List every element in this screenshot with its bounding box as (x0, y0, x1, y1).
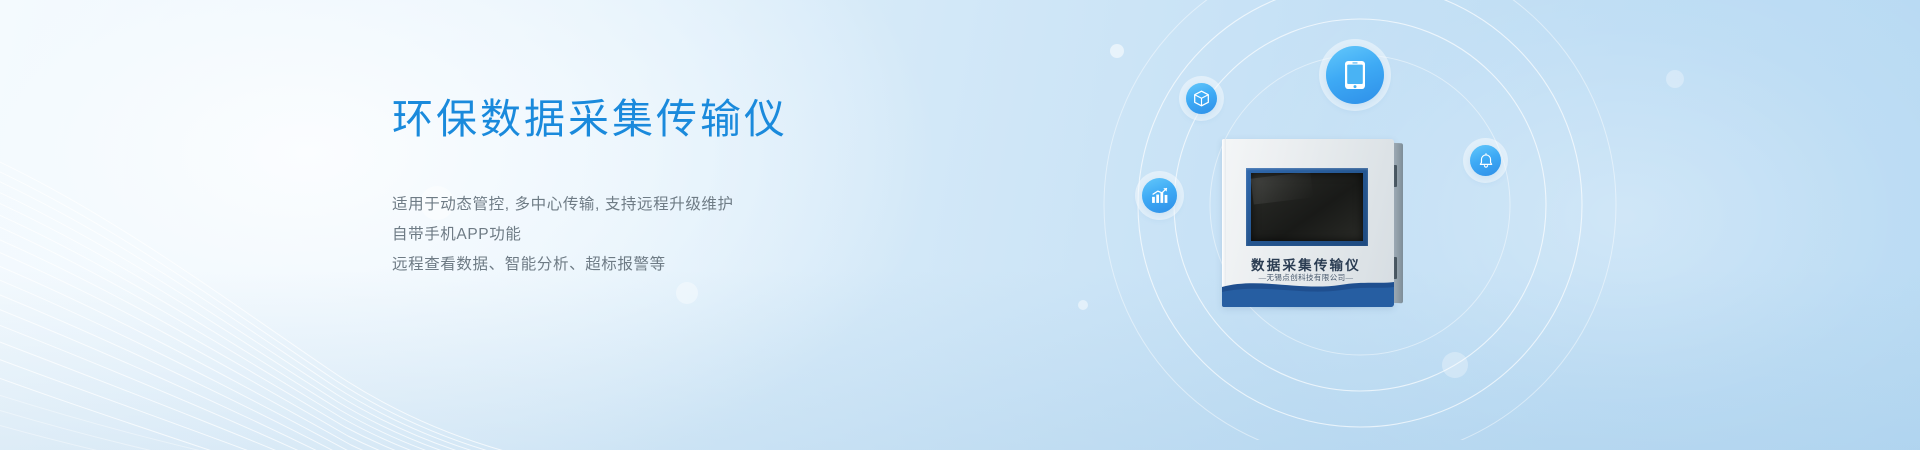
banner-copy: 环保数据采集传输仪 适用于动态管控, 多中心传输, 支持远程升级维护 自带手机A… (392, 96, 952, 280)
banner-sublines: 适用于动态管控, 多中心传输, 支持远程升级维护 自带手机APP功能 远程查看数… (392, 190, 952, 280)
badge-bar-chart[interactable] (1142, 178, 1177, 213)
banner-headline: 环保数据采集传输仪 (392, 96, 952, 144)
banner-subline-2: 自带手机APP功能 (392, 220, 952, 250)
device-base-swoosh (1222, 275, 1394, 307)
bokeh-circle (1110, 44, 1124, 58)
bottom-shade (0, 270, 1920, 450)
bokeh-circle (1666, 70, 1684, 88)
product-banner: 环保数据采集传输仪 适用于动态管控, 多中心传输, 支持远程升级维护 自带手机A… (0, 0, 1920, 450)
alarm-bell-icon (1478, 153, 1494, 169)
badge-alarm-bell[interactable] (1470, 145, 1501, 176)
bokeh-circle (1442, 352, 1468, 378)
bar-chart-icon (1150, 186, 1169, 205)
mobile-phone-icon (1344, 60, 1366, 90)
banner-subline-3: 远程查看数据、智能分析、超标报警等 (392, 250, 952, 280)
package-box-icon (1193, 90, 1210, 107)
bokeh-circle (676, 282, 698, 304)
banner-subline-1: 适用于动态管控, 多中心传输, 支持远程升级维护 (392, 190, 952, 220)
badge-package-box[interactable] (1186, 83, 1217, 114)
device-title-label: 数据采集传输仪 (1222, 254, 1390, 274)
device-cabinet: 数据采集传输仪 —无锡点创科技有限公司— (1222, 139, 1397, 311)
bokeh-circle (1078, 300, 1088, 310)
badge-mobile-phone[interactable] (1326, 46, 1384, 104)
device-front-panel: 数据采集传输仪 —无锡点创科技有限公司— (1222, 139, 1394, 307)
